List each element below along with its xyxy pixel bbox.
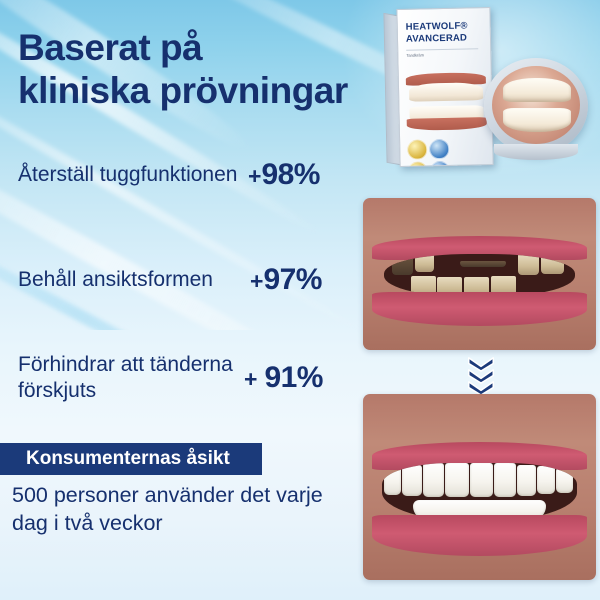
plus-sign: + <box>244 366 257 392</box>
plus-sign: + <box>250 268 263 294</box>
restored-tooth <box>445 463 468 498</box>
consumer-opinion-banner: Konsumenternas åsikt <box>0 443 262 475</box>
benefit-claim: Förhindrar att tänderna förskjuts +91% <box>18 352 363 403</box>
after-photo <box>363 394 596 580</box>
restored-tooth <box>402 465 422 497</box>
headline-line-1: Baserat på <box>18 27 202 68</box>
restored-tooth <box>537 466 555 494</box>
percent-value: 91% <box>264 361 323 394</box>
quality-seal-icon <box>407 139 427 159</box>
denture-upper-arch <box>503 78 572 101</box>
restored-tooth <box>556 468 574 493</box>
damaged-tooth <box>415 254 434 272</box>
transformation-arrows <box>465 356 497 396</box>
ce-mark-icon: CE <box>430 161 450 167</box>
damaged-tooth <box>392 255 413 274</box>
headline-line-2: kliniska prövningar <box>18 69 398 112</box>
damaged-tooth <box>541 255 564 274</box>
benefit-claim-value: +91% <box>244 361 323 395</box>
package-brand-line-2: AVANCERAD <box>406 32 467 44</box>
teeth-upper-row <box>409 82 483 102</box>
package-brand-line-1: HEATWOLF® <box>406 21 468 33</box>
advertisement-root: Baserat på kliniska prövningar Återställ… <box>0 0 600 600</box>
award-seal-icon <box>408 161 428 167</box>
restored-tooth <box>470 463 493 498</box>
lower-lip <box>372 292 586 325</box>
plus-sign: + <box>248 163 261 189</box>
missing-tooth-gap <box>460 261 506 267</box>
consumer-opinion-label: Konsumenternas åsikt <box>0 448 230 470</box>
lower-lip <box>372 515 586 556</box>
certification-badges: CE <box>407 139 454 167</box>
benefit-claim-value: +97% <box>250 263 322 297</box>
restored-tooth <box>517 465 537 496</box>
gum-lower <box>407 117 486 131</box>
page-title: Baserat på kliniska prövningar <box>18 26 398 113</box>
package-subtitle: Tandkräm <box>406 48 478 59</box>
damaged-tooth <box>518 254 539 274</box>
benefit-claim-label: Behåll ansiktsformen <box>18 267 250 293</box>
package-brand: HEATWOLF® AVANCERAD <box>406 21 468 45</box>
benefit-claim-label: Återställ tuggfunktionen <box>18 162 248 188</box>
restored-tooth <box>494 463 516 496</box>
restored-tooth <box>384 466 402 495</box>
benefit-claim-value: +98% <box>248 158 320 192</box>
before-photo <box>363 198 596 350</box>
denture-lower-arch <box>503 108 572 131</box>
benefit-claim: Behåll ansiktsformen +97% <box>18 263 358 297</box>
restored-tooth <box>423 463 445 496</box>
package-denture-image <box>403 64 490 136</box>
percent-value: 97% <box>263 263 322 296</box>
benefit-claim: Återställ tuggfunktionen +98% <box>18 158 358 192</box>
percent-value: 98% <box>261 158 320 191</box>
consumer-usage-note: 500 personer använder det varje dag i tv… <box>12 482 357 537</box>
mouth-cavity <box>382 463 578 523</box>
certification-seal-icon <box>429 139 449 159</box>
benefit-claim-label: Förhindrar att tänderna förskjuts <box>18 352 244 403</box>
denture-display <box>478 40 596 170</box>
denture-bowl-base <box>494 144 578 160</box>
denture-bowl-interior <box>492 66 580 144</box>
